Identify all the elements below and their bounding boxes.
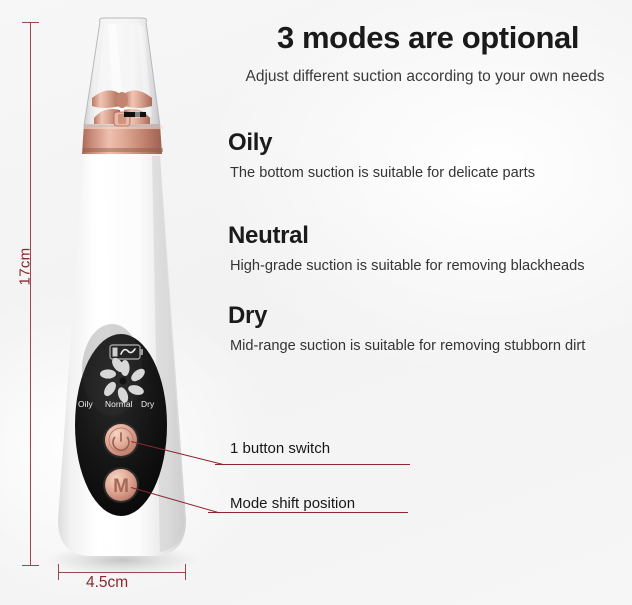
mode-desc-dry: Mid-range suction is suitable for removi… [230, 338, 585, 354]
device-label-dry: Dry [141, 399, 154, 409]
svg-text:M: M [113, 476, 129, 497]
mode-desc-neutral: High-grade suction is suitable for remov… [230, 258, 585, 274]
mode-title-oily: Oily [228, 129, 272, 157]
mode-button: M [103, 467, 139, 503]
control-panel [75, 334, 167, 516]
callout-label-power-button: 1 button switch [230, 440, 330, 457]
height-dimension-cap-top [22, 22, 39, 23]
power-icon [113, 433, 129, 450]
leader-line-mode-button [131, 487, 220, 514]
mode-desc-oily: The bottom suction is suitable for delic… [230, 165, 535, 181]
mode-title-neutral: Neutral [228, 222, 309, 250]
width-dimension-cap-left [58, 564, 59, 580]
height-dimension-label: 17cm [16, 248, 33, 286]
cup-marker [124, 112, 146, 117]
leader-line-power-button [131, 441, 224, 466]
product-image-blackhead-remover: M [0, 0, 632, 605]
power-button [103, 422, 139, 458]
page-title: 3 modes are optional [228, 20, 628, 56]
fan-icon [100, 356, 147, 404]
mode-title-dry: Dry [228, 302, 267, 330]
height-dimension-cap-bottom [22, 565, 39, 566]
suction-mechanism [92, 90, 152, 126]
width-dimension-label: 4.5cm [86, 574, 128, 592]
callout-rule-mode-button [208, 512, 408, 513]
device-label-oily: Oily [78, 399, 93, 409]
callout-label-mode-button: Mode shift position [230, 495, 355, 512]
rose-gold-band [82, 124, 162, 154]
width-dimension-cap-right [185, 564, 186, 580]
device-body [58, 152, 186, 556]
callout-rule-power-button [215, 464, 410, 465]
page-subtitle: Adjust different suction according to yo… [222, 68, 628, 86]
device-label-normal: Normal [105, 399, 133, 409]
battery-icon [110, 345, 143, 359]
height-dimension-line [30, 22, 31, 566]
product-infographic: M Oily Normal Dry 17cm 4.5cm 3 modes are… [0, 0, 632, 605]
suction-cup-clear [84, 18, 160, 126]
